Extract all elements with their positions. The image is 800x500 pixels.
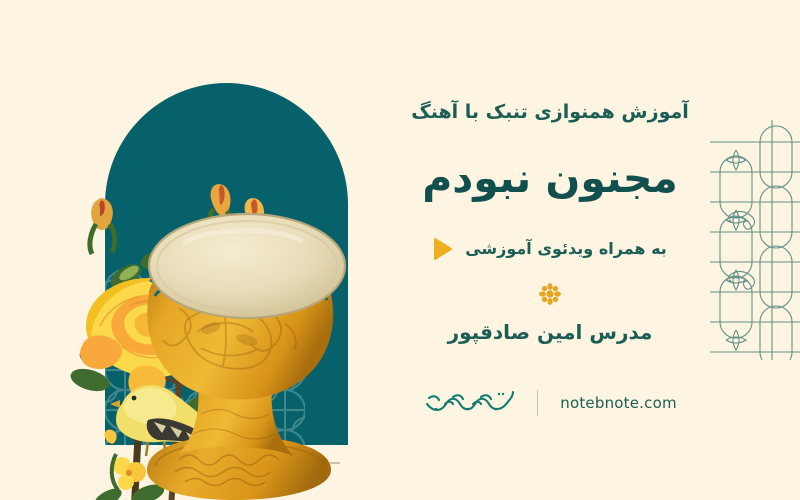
tonbak-drum-illustration-icon <box>135 208 350 500</box>
play-triangle-icon[interactable] <box>433 238 453 260</box>
brand-row: notebnote.com <box>423 388 677 418</box>
crop-mark <box>330 462 340 464</box>
website-url[interactable]: notebnote.com <box>560 394 677 412</box>
flower-rosette-icon <box>538 282 562 306</box>
instructor-name: مدرس امین صادقپور <box>448 320 653 344</box>
kicker-line: آموزش همنوازی تنبک با آهنگ <box>411 100 689 125</box>
text-column: آموزش همنوازی تنبک با آهنگ مجنون نبودم ب… <box>380 0 720 500</box>
video-note-row: به همراه ویدئوی آموزشی <box>433 238 667 260</box>
video-note-label: به همراه ویدئوی آموزشی <box>465 239 667 258</box>
brand-divider <box>537 390 538 416</box>
page-title: مجنون نبودم <box>422 155 678 202</box>
poster-canvas: آموزش همنوازی تنبک با آهنگ مجنون نبودم ب… <box>0 0 800 500</box>
artwork-block <box>105 83 348 445</box>
notebnote-script-logo-icon[interactable] <box>423 388 515 418</box>
